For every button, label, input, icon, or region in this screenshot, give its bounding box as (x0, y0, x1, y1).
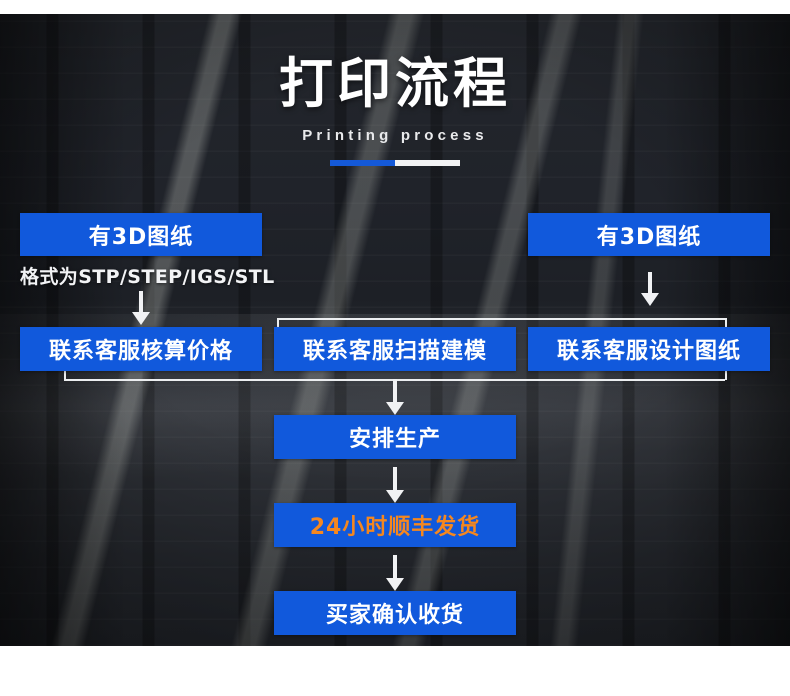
title-divider (330, 160, 460, 166)
flow-box-arrange-production[interactable]: 安排生产 (274, 415, 516, 459)
top-white-strip (0, 0, 790, 14)
printing-process-infographic: 打印流程 Printing process 有3D图纸 格式为STP/STEP/… (0, 0, 790, 696)
arrow-down-to-confirm (380, 555, 410, 591)
flow-box-top-left[interactable]: 有3D图纸 (20, 213, 262, 256)
page-title: 打印流程 (0, 55, 790, 113)
flow-caption-formats: 格式为STP/STEP/IGS/STL (20, 262, 262, 289)
arrow-down-right-top (635, 272, 665, 306)
flow-box-scan-model[interactable]: 联系客服扫描建模 (274, 327, 516, 371)
flow-box-design-drawing[interactable]: 联系客服设计图纸 (528, 327, 770, 371)
page-subtitle: Printing process (0, 127, 790, 144)
bottom-white-strip (0, 646, 790, 696)
flow-box-buyer-confirm[interactable]: 买家确认收货 (274, 591, 516, 635)
flow-box-top-right[interactable]: 有3D图纸 (528, 213, 770, 256)
flow-box-24h-shipping[interactable]: 24小时顺丰发货 (274, 503, 516, 547)
divider-blue-segment (330, 160, 395, 166)
arrow-down-to-shipping (380, 467, 410, 503)
divider-white-segment (395, 160, 460, 166)
arrow-down-left-top (126, 291, 156, 325)
header: 打印流程 Printing process (0, 55, 790, 166)
flow-box-quote[interactable]: 联系客服核算价格 (20, 327, 262, 371)
arrow-down-to-production (380, 379, 410, 415)
bracket-top-horizontal (277, 318, 727, 320)
